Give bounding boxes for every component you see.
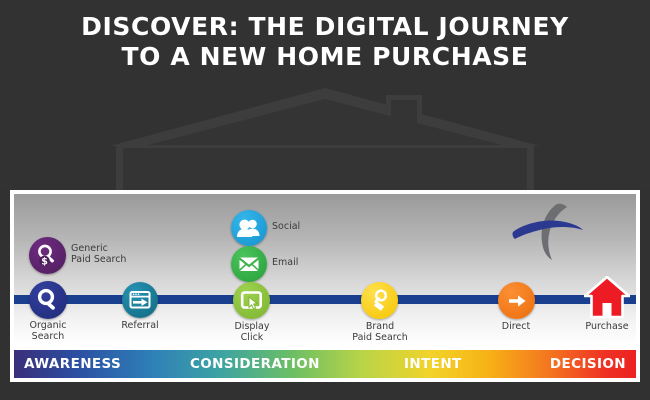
generic-paid-search-label: Generic Paid Search [71,244,126,265]
email-icon-circle[interactable] [231,246,267,282]
house-icon [584,276,630,320]
screen-cursor-icon [239,288,264,313]
journey-timeline [14,295,636,304]
display-click-label: Display Click [234,322,269,343]
journey-stage-area: $ Generic Paid Search Organic Search [14,194,636,346]
svg-text:$: $ [41,256,48,267]
header-banner: DISCOVER: THE DIGITAL JOURNEY TO A NEW H… [0,0,650,190]
browser-arrow-icon [128,288,152,312]
stage-label-awareness: AWARENESS [24,356,121,372]
house-body-inner [123,148,527,190]
title-line-2: TO A NEW HOME PURCHASE [0,42,650,72]
purchase-label: Purchase [585,322,628,333]
envelope-icon [237,252,261,276]
referral-label: Referral [121,321,158,332]
organic-search-label: Organic Search [30,321,67,342]
brand-paid-search-icon-circle[interactable] [361,282,398,319]
stage-label-consideration: CONSIDERATION [190,356,320,372]
purchase-icon-wrap[interactable] [584,276,630,320]
direct-label: Direct [502,322,530,333]
page-title: DISCOVER: THE DIGITAL JOURNEY TO A NEW H… [0,12,650,72]
people-icon [236,216,262,240]
email-label: Email [272,258,298,269]
swoosh-logo [509,200,589,262]
stage-label-intent: INTENT [404,356,462,372]
journey-panel: $ Generic Paid Search Organic Search [10,190,640,382]
brand-paid-search-label: Brand Paid Search [352,322,407,343]
magnifier-icon [35,287,61,313]
organic-search-icon-circle[interactable] [29,281,67,319]
social-label: Social [272,222,300,233]
social-icon-circle[interactable] [231,210,267,246]
referral-icon-circle[interactable] [122,282,158,318]
title-line-1: DISCOVER: THE DIGITAL JOURNEY [0,12,650,42]
magnifier-dollar-icon: $ [35,243,61,269]
journey-stage-bar: AWARENESS CONSIDERATION INTENT DECISION [14,350,636,378]
magnifier-tag-icon [367,288,392,313]
display-click-icon-circle[interactable] [233,282,270,319]
generic-paid-search-icon-circle[interactable]: $ [29,237,66,274]
stage-label-decision: DECISION [550,356,626,372]
direct-icon-circle[interactable] [498,282,535,319]
house-roof-inner [125,99,525,151]
arrow-right-icon [505,289,529,313]
